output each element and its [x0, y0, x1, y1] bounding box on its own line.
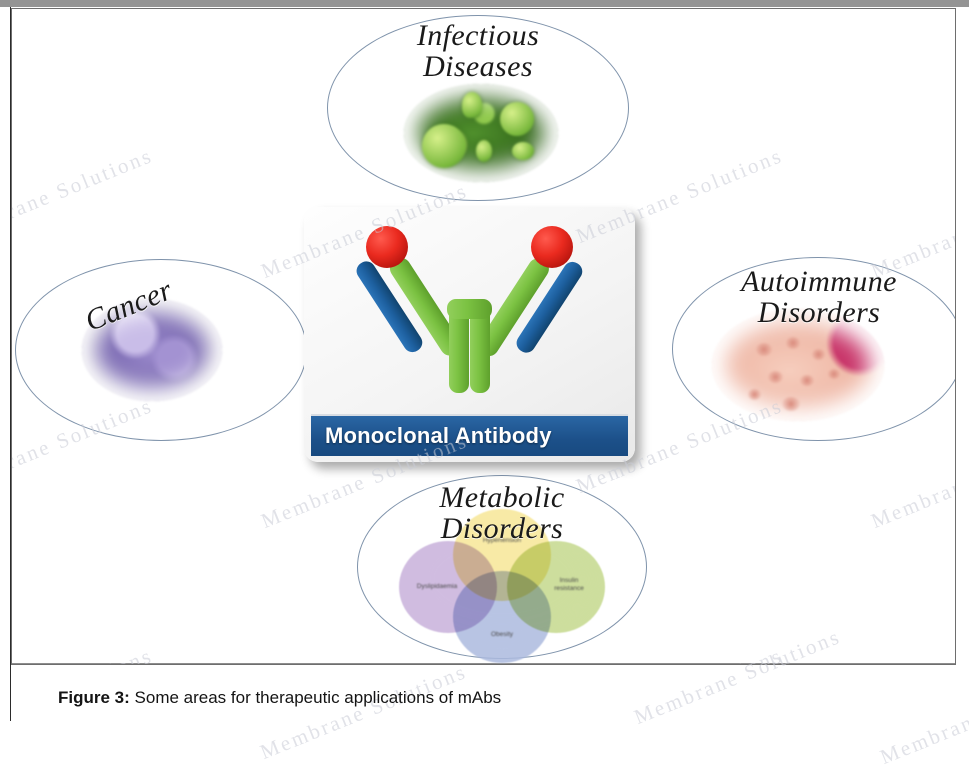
watermark-text: Membrane Solutions: [877, 664, 969, 770]
node-label-autoimmune-disorders: Autoimmune Disorders: [688, 267, 950, 328]
microbe-shape: [422, 124, 466, 168]
antigen-left: [366, 226, 408, 268]
page-top-bar: [0, 0, 969, 7]
rash-spot: [756, 343, 772, 356]
rash-spot: [748, 389, 761, 400]
rash-spot: [800, 375, 814, 386]
antibody-y-shape-illustration: [304, 207, 635, 413]
microbe-shape: [462, 92, 482, 118]
monoclonal-antibody-banner: Monoclonal Antibody: [311, 414, 628, 456]
green-microbes-photo: [404, 84, 558, 182]
microbe-shape: [500, 102, 534, 136]
antibody-hinge: [447, 299, 492, 319]
venn-slice-obesity: Obesity: [453, 571, 551, 663]
microbe-shape: [512, 142, 534, 160]
watermark-text: Membrane Solutions: [257, 659, 471, 765]
venn-label-dyslipidaemia: Dyslipidaemia: [417, 583, 457, 591]
rash-spot: [812, 349, 825, 360]
watermark-text: Membrane Solutions: [12, 643, 157, 665]
monoclonal-antibody-card[interactable]: Monoclonal Antibody: [304, 207, 635, 462]
antigen-right: [531, 226, 573, 268]
rash-spot: [786, 337, 800, 349]
figure-frame: Infectious Diseases Cancer Autoimmune Di…: [11, 8, 956, 665]
venn-label-obesity: Obesity: [491, 631, 513, 639]
venn-label-insulin-resistance: Insulin resistance: [554, 577, 584, 593]
rash-spot: [828, 369, 840, 379]
monoclonal-antibody-banner-text: Monoclonal Antibody: [325, 423, 552, 449]
figure-caption-label: Figure 3:: [58, 688, 130, 707]
rash-spot: [768, 371, 783, 383]
watermark-text: Membrane Solutions: [868, 428, 956, 534]
figure-caption-text: Some areas for therapeutic applications …: [130, 688, 501, 707]
figure-caption: Figure 3: Some areas for therapeutic app…: [58, 688, 501, 708]
node-label-infectious-diseases: Infectious Diseases: [342, 21, 614, 82]
microbe-shape: [476, 140, 492, 162]
rash-spot: [782, 397, 800, 411]
node-label-metabolic-disorders: Metabolic Disorders: [370, 483, 634, 544]
watermark-text: Membrane Solutions: [12, 143, 157, 249]
